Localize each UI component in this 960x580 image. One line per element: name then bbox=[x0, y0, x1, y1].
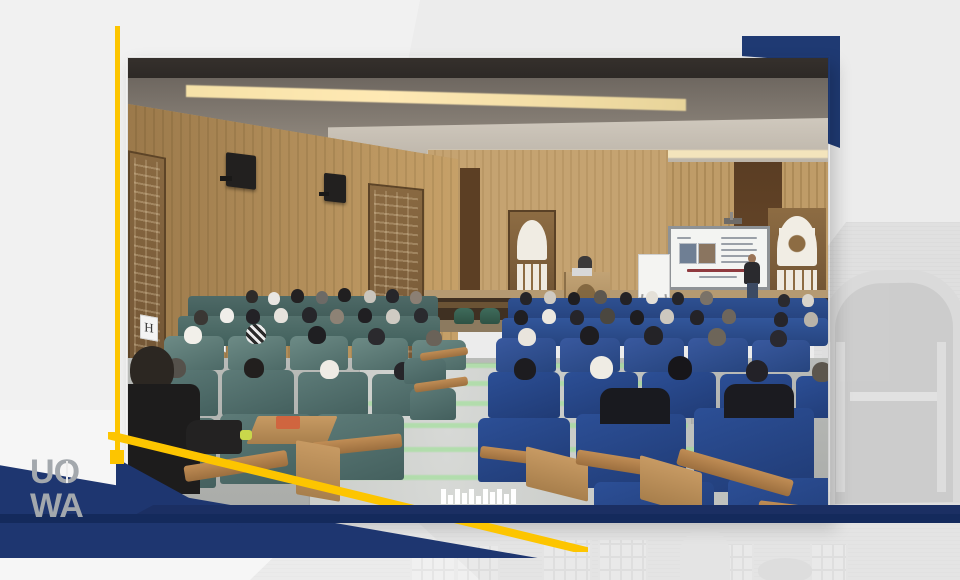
stage-chair-1 bbox=[454, 308, 474, 324]
attendee-head bbox=[520, 292, 532, 305]
attendee-head bbox=[542, 309, 556, 324]
attendee-head bbox=[330, 309, 344, 324]
attendee-head bbox=[386, 309, 400, 324]
mobile-phone-on-tablet bbox=[276, 416, 300, 429]
attendee-head-hijab bbox=[580, 326, 599, 345]
yellow-accent-line-vertical bbox=[115, 26, 120, 458]
attendee-head-hijab bbox=[746, 360, 768, 382]
attendee-head bbox=[722, 309, 736, 324]
event-photo: H G F E D C B bbox=[128, 58, 828, 518]
slide-text-line bbox=[699, 276, 737, 278]
attendee-head bbox=[358, 308, 372, 323]
attendee-head bbox=[544, 291, 556, 304]
pilaster-right bbox=[937, 342, 946, 492]
slide-text-line bbox=[721, 255, 751, 257]
attendee-head bbox=[770, 330, 787, 347]
navy-band-bottom bbox=[0, 514, 960, 523]
attendee-head bbox=[268, 292, 280, 305]
attendee-head bbox=[386, 289, 399, 303]
slide-text-line bbox=[721, 237, 757, 239]
slide-logo-line bbox=[677, 237, 691, 239]
row-sign-H: H bbox=[140, 314, 158, 341]
attendee-torso bbox=[724, 384, 794, 418]
loudspeaker-2-bracket bbox=[319, 192, 329, 196]
attendee-head-hijab bbox=[644, 326, 663, 345]
attendee-torso bbox=[600, 388, 670, 424]
attendee-head bbox=[600, 308, 615, 324]
attendee-head bbox=[426, 330, 442, 346]
loudspeaker-2 bbox=[324, 173, 346, 203]
standing-person-torso bbox=[744, 262, 760, 284]
attendee-head bbox=[708, 328, 726, 346]
attendee-head-hijab bbox=[320, 360, 339, 379]
foreground-person-arm bbox=[186, 420, 242, 454]
attendee-head bbox=[620, 292, 632, 305]
attendee-head bbox=[302, 307, 317, 323]
attendee-head-hijab bbox=[184, 326, 202, 344]
attendee-head-hijab bbox=[308, 326, 326, 344]
slide-title-arabic bbox=[687, 269, 749, 272]
attendee-head-hijab bbox=[518, 328, 536, 346]
shrub bbox=[758, 558, 812, 580]
attendee-head bbox=[804, 312, 818, 327]
attendee-head bbox=[316, 291, 328, 304]
facade-arch bbox=[680, 528, 730, 580]
projector-mount bbox=[724, 218, 742, 224]
navy-band-upper bbox=[118, 505, 960, 514]
attendee-head bbox=[690, 310, 704, 325]
facade-window-6 bbox=[810, 542, 848, 580]
attendee-head bbox=[414, 308, 428, 323]
attendee-head bbox=[672, 292, 684, 305]
attendee-head bbox=[660, 309, 674, 324]
ornament-arch-center bbox=[517, 220, 547, 260]
attendee-head bbox=[774, 312, 788, 327]
attendee-head bbox=[570, 310, 584, 325]
projector-rod bbox=[730, 212, 733, 220]
slide-text-line bbox=[721, 249, 757, 251]
attendee-head bbox=[274, 308, 288, 323]
uowa-logo-line-2: WA bbox=[30, 489, 116, 523]
ornament-medallion bbox=[779, 228, 815, 254]
attendee-head bbox=[246, 290, 258, 303]
attendee-head bbox=[700, 291, 713, 305]
attendee-head bbox=[630, 310, 644, 325]
attendee-head bbox=[410, 291, 422, 304]
attendee-head bbox=[812, 362, 828, 382]
slide-text-line bbox=[721, 243, 753, 245]
attendee-head bbox=[220, 308, 234, 323]
attendee-head bbox=[244, 358, 264, 378]
attendee-head bbox=[194, 310, 208, 325]
kufic-wordmark-icon bbox=[441, 489, 516, 504]
attendee-head bbox=[364, 290, 376, 303]
attendee-head-hijab bbox=[590, 356, 613, 379]
attendee-head bbox=[514, 310, 528, 325]
attendee-head-hijab bbox=[514, 358, 536, 380]
attendee-head-patterned bbox=[246, 324, 266, 344]
uowa-logo-u: U bbox=[30, 453, 54, 491]
attendee-head bbox=[646, 291, 658, 304]
attendee-head bbox=[246, 309, 260, 324]
loudspeaker-1-bracket bbox=[220, 176, 232, 181]
campus-arch-right-watermark bbox=[814, 222, 960, 522]
attendee-head bbox=[594, 290, 607, 304]
uowa-logo: UO WA bbox=[30, 455, 116, 529]
attendee-head-hijab bbox=[368, 328, 385, 345]
facade-window-4 bbox=[598, 538, 648, 580]
attendee-head bbox=[778, 294, 790, 307]
small-object-yellow bbox=[240, 430, 252, 440]
poster-canvas: H G F E D C B bbox=[0, 0, 960, 580]
uowa-logo-o: O bbox=[54, 455, 79, 489]
slide-portrait-1 bbox=[679, 243, 697, 264]
uowa-logo-line-1: UO bbox=[30, 455, 116, 489]
attendee-head bbox=[338, 288, 351, 302]
balcony-ledge bbox=[850, 392, 942, 401]
attendee-head bbox=[568, 292, 580, 305]
pilaster-left-2 bbox=[836, 342, 845, 492]
seat-left bbox=[410, 388, 456, 420]
attendee-head bbox=[802, 294, 814, 307]
stage-chair-2 bbox=[480, 308, 500, 324]
loudspeaker-1 bbox=[226, 152, 256, 190]
attendee-head bbox=[291, 289, 304, 303]
slide-portrait-2 bbox=[698, 243, 716, 264]
presenter-laptop bbox=[572, 268, 592, 276]
attendee-head-hijab bbox=[668, 356, 692, 380]
